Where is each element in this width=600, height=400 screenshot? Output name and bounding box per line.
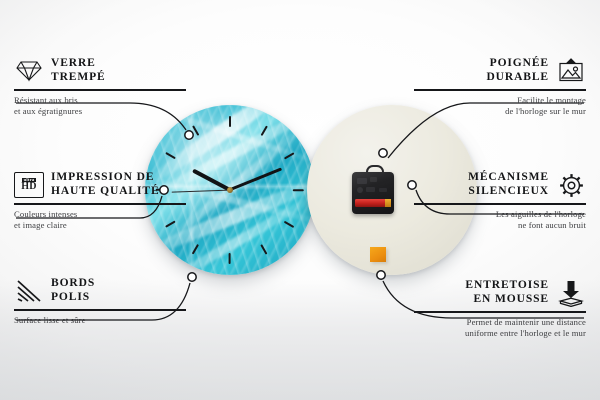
clock-tick <box>229 253 231 264</box>
feature-title: POIGNÉE DURABLE <box>486 57 549 84</box>
feature-verre-trempe[interactable]: VERRE TREMPÉ Résistant aux bris et aux é… <box>14 56 186 118</box>
ultra-hd-badge-icon: ultra HD <box>14 170 44 200</box>
foam-spacer-arrow-icon <box>556 278 586 308</box>
diamond-icon <box>14 56 44 86</box>
feature-header: ENTRETOISE EN MOUSSE <box>414 278 586 308</box>
feature-description: Facilite le montage de l'horloge sur le … <box>414 95 586 118</box>
feature-title: IMPRESSION DE HAUTE QUALITÉ <box>51 171 160 198</box>
feature-divider <box>14 203 186 205</box>
feature-description: Couleurs intenses et image claire <box>14 209 186 232</box>
clock-tick <box>261 244 268 254</box>
clock-tick <box>293 189 304 191</box>
gear-icon <box>556 170 586 200</box>
feature-header: POIGNÉE DURABLE <box>414 56 586 86</box>
feature-poignee-durable[interactable]: POIGNÉE DURABLE Facilite le montage de l… <box>414 56 586 118</box>
ultra-hd-badge-main-text: HD <box>21 182 37 192</box>
feature-bords-polis[interactable]: BORDS POLIS Surface lisse et sûre <box>14 276 186 326</box>
infographic-canvas: VERRE TREMPÉ Résistant aux bris et aux é… <box>0 0 600 400</box>
feature-header: MÉCANISME SILENCIEUX <box>414 170 586 200</box>
feature-title: ENTRETOISE EN MOUSSE <box>465 279 549 306</box>
clock-movement-mechanism <box>352 172 394 214</box>
feature-header: BORDS POLIS <box>14 276 186 306</box>
clock-tick <box>284 221 294 228</box>
feature-divider <box>414 203 586 205</box>
clock-hand-cap <box>227 187 233 193</box>
feature-description: Permet de maintenir une distance uniform… <box>414 317 586 340</box>
feature-title: BORDS POLIS <box>51 277 95 304</box>
feature-title: VERRE TREMPÉ <box>51 57 106 84</box>
feature-divider <box>14 89 186 91</box>
polished-edge-lines-icon <box>14 276 44 306</box>
clock-battery-terminal <box>385 199 391 207</box>
feature-impression-haute-qualite[interactable]: ultra HD IMPRESSION DE HAUTE QUALITÉ Cou… <box>14 170 186 232</box>
feature-title: MÉCANISME SILENCIEUX <box>468 171 549 198</box>
feature-entretoise-en-mousse[interactable]: ENTRETOISE EN MOUSSE Permet de maintenir… <box>414 278 586 340</box>
feature-divider <box>414 89 586 91</box>
picture-hanger-icon <box>556 56 586 86</box>
feature-mecanisme-silencieux[interactable]: MÉCANISME SILENCIEUX Les aiguilles de l'… <box>414 170 586 232</box>
feature-description: Surface lisse et sûre <box>14 315 186 327</box>
feature-divider <box>414 311 586 313</box>
feature-header: VERRE TREMPÉ <box>14 56 186 86</box>
feature-description: Les aiguilles de l'horloge ne font aucun… <box>414 209 586 232</box>
clock-tick <box>229 116 231 127</box>
feature-divider <box>14 309 186 311</box>
foam-spacer-sample <box>370 247 386 262</box>
feature-header: ultra HD IMPRESSION DE HAUTE QUALITÉ <box>14 170 186 200</box>
feature-description: Résistant aux bris et aux égratignures <box>14 95 186 118</box>
